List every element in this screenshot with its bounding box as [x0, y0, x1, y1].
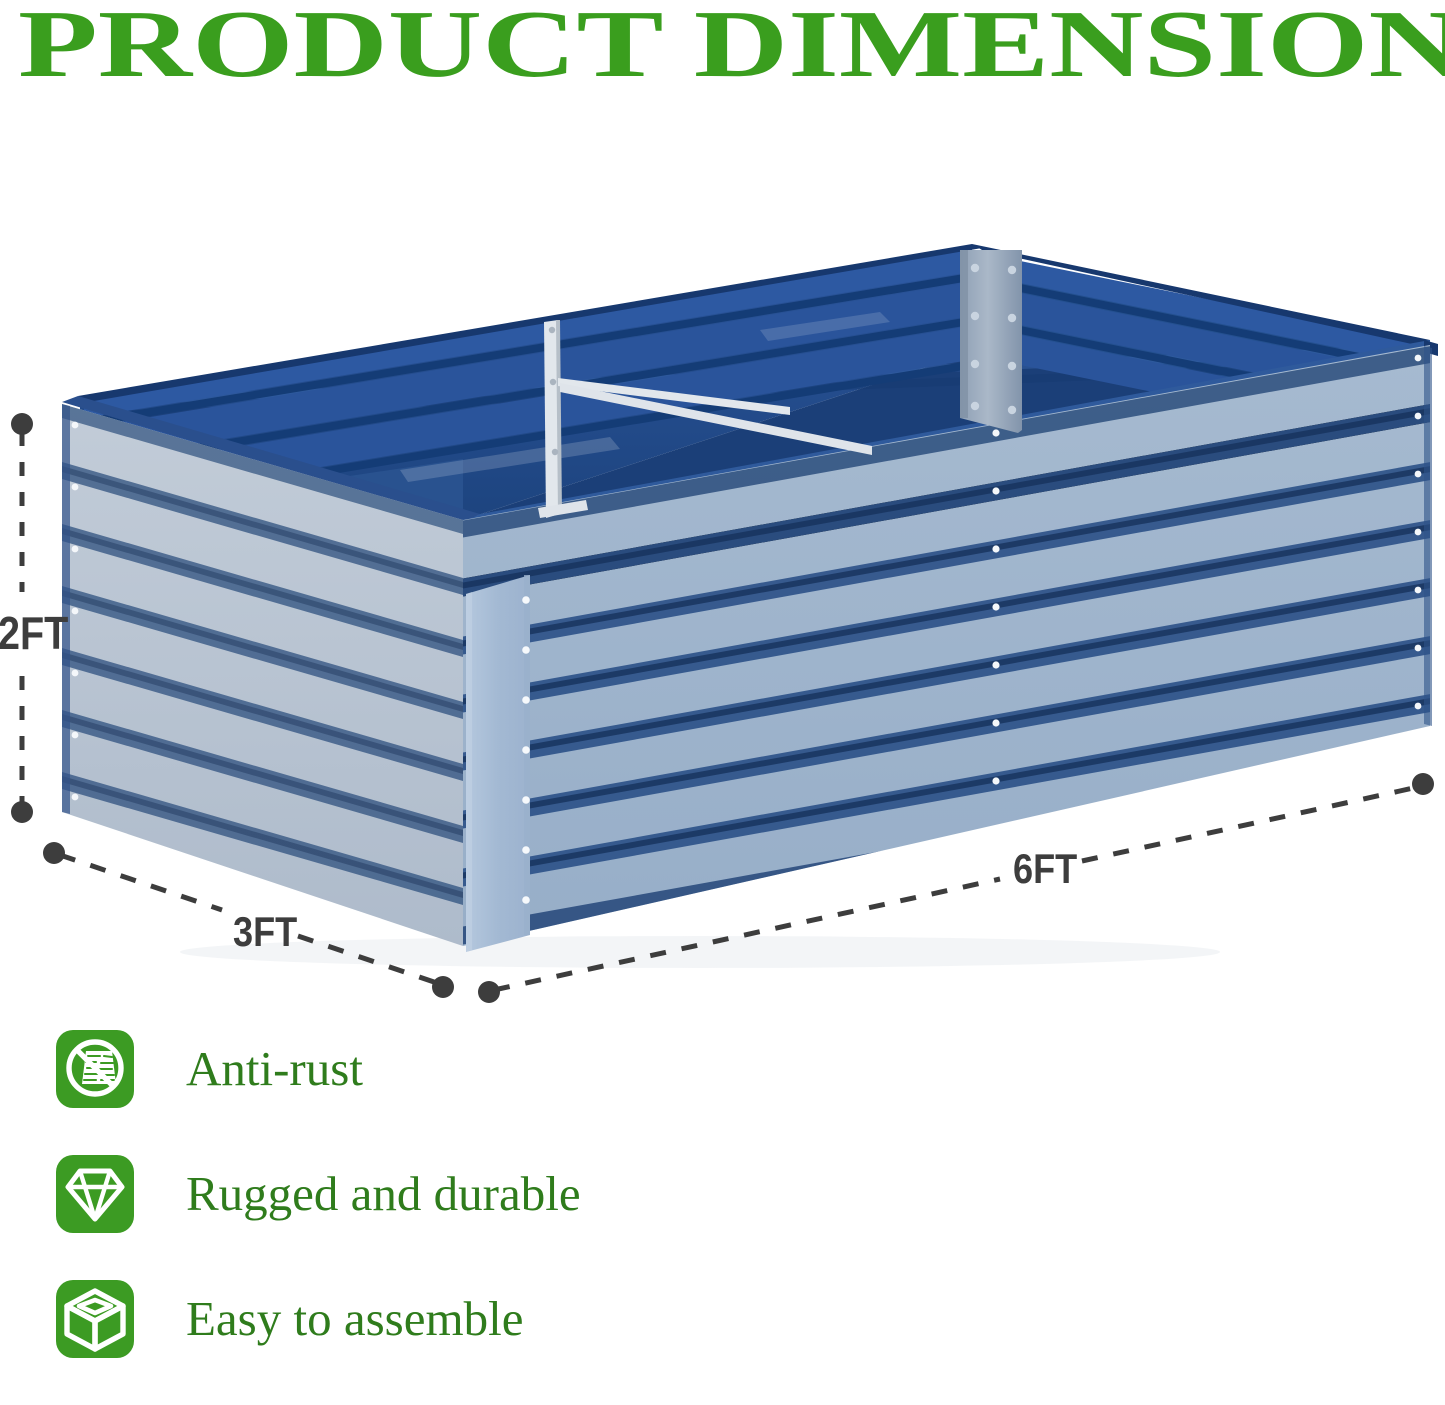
dimension-label-height: 2FT [0, 606, 68, 660]
feature-item-durable: Rugged and durable [0, 1155, 900, 1280]
feature-label-assembly: Easy to assemble [186, 1283, 523, 1355]
feature-label-anti-rust: Anti-rust [186, 1033, 363, 1105]
infographic-canvas: PRODUCT DIMENSIONS [0, 0, 1445, 1391]
feature-label-durable: Rugged and durable [186, 1158, 581, 1230]
back-corner-post [960, 250, 1022, 433]
cube-icon [56, 1280, 134, 1358]
feature-item-anti-rust: Anti-rust [0, 1030, 900, 1155]
feature-item-assembly: Easy to assemble [0, 1280, 900, 1405]
feature-list: Anti-rust Rugged and durable [0, 1030, 900, 1405]
dim-dot-depth-start [43, 842, 65, 864]
dimension-label-width: 6FT [1013, 845, 1077, 893]
dim-dot-width-start [478, 981, 500, 1003]
front-corner-post [466, 575, 530, 952]
dim-dot-height-bottom [11, 801, 33, 823]
dim-dot-width-end [1412, 773, 1434, 795]
diamond-icon [56, 1155, 134, 1233]
dim-dot-depth-end [432, 976, 454, 998]
no-rust-icon [56, 1030, 134, 1108]
dimension-label-depth: 3FT [233, 908, 297, 956]
dim-dot-height-top [11, 413, 33, 435]
